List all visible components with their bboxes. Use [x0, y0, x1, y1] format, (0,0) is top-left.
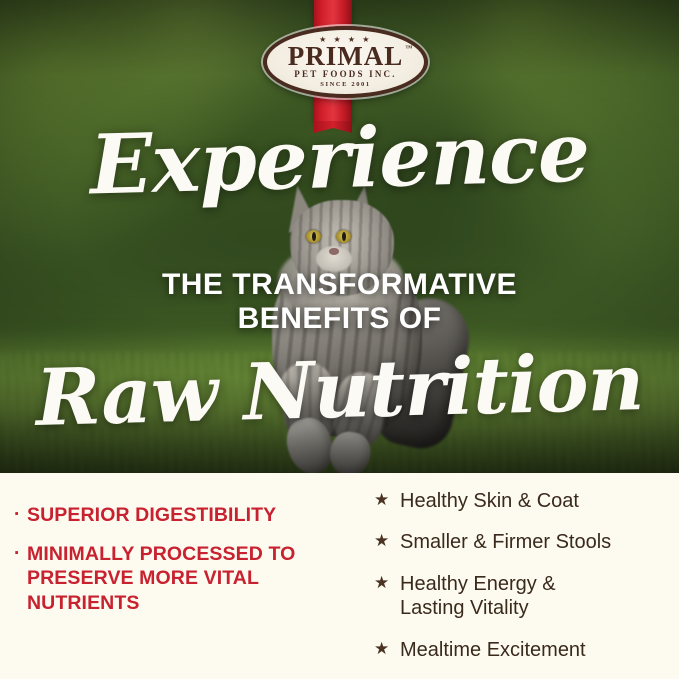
- star-icon: ★: [374, 530, 396, 552]
- headline-script-raw-nutrition: Raw Nutrition: [0, 343, 679, 439]
- list-item: · MINIMALLY PROCESSED TO PRESERVE MORE V…: [14, 542, 332, 616]
- headline-script-experience: Experience: [0, 109, 679, 209]
- headline-subtitle-line2: BENEFITS OF: [0, 302, 679, 336]
- headline-subtitle-line1: THE TRANSFORMATIVE: [162, 268, 517, 301]
- benefits-right-column: ★ Healthy Skin & Coat ★ Smaller & Firmer…: [348, 473, 679, 679]
- logo-since: SINCE 2001: [320, 81, 371, 88]
- list-item-label-wrap: Healthy Energy & Lasting Vitality: [400, 572, 556, 621]
- list-item-label: Healthy Energy &: [400, 573, 556, 595]
- list-item: ★ Mealtime Excitement: [374, 638, 669, 662]
- logo-brand-text: PRIMAL: [288, 41, 404, 71]
- logo-tagline: PET FOODS INC.: [294, 70, 396, 79]
- star-icon: ★: [374, 638, 396, 660]
- list-item-label: MINIMALLY PROCESSED TO PRESERVE MORE VIT…: [27, 542, 332, 616]
- star-icon: ★: [374, 489, 396, 511]
- advertisement-banner: ★ ★ ★ ★ PRIMAL™ PET FOODS INC. SINCE 200…: [0, 0, 679, 679]
- list-item-label-line2: Lasting Vitality: [400, 596, 556, 620]
- headline-subtitle: THE TRANSFORMATIVE BENEFITS OF: [0, 268, 679, 335]
- list-item-label: SUPERIOR DIGESTIBILITY: [27, 503, 276, 528]
- star-icon: ★: [374, 572, 396, 594]
- list-item-label: Mealtime Excitement: [400, 638, 586, 662]
- primal-logo: ★ ★ ★ ★ PRIMAL™ PET FOODS INC. SINCE 200…: [263, 26, 428, 98]
- bullet-dot-icon: ·: [14, 542, 25, 566]
- list-item: ★ Healthy Energy & Lasting Vitality: [374, 572, 669, 621]
- benefits-panel: · SUPERIOR DIGESTIBILITY · MINIMALLY PRO…: [0, 473, 679, 679]
- list-item-label: Smaller & Firmer Stools: [400, 530, 611, 554]
- list-item: ★ Smaller & Firmer Stools: [374, 530, 669, 554]
- list-item: · SUPERIOR DIGESTIBILITY: [14, 503, 332, 528]
- benefits-left-column: · SUPERIOR DIGESTIBILITY · MINIMALLY PRO…: [0, 473, 348, 679]
- hero-photo: ★ ★ ★ ★ PRIMAL™ PET FOODS INC. SINCE 200…: [0, 0, 679, 473]
- logo-brand-name: PRIMAL™: [288, 44, 404, 70]
- bullet-dot-icon: ·: [14, 503, 25, 527]
- trademark-icon: ™: [405, 45, 412, 52]
- list-item-label: Healthy Skin & Coat: [400, 489, 579, 513]
- list-item: ★ Healthy Skin & Coat: [374, 489, 669, 513]
